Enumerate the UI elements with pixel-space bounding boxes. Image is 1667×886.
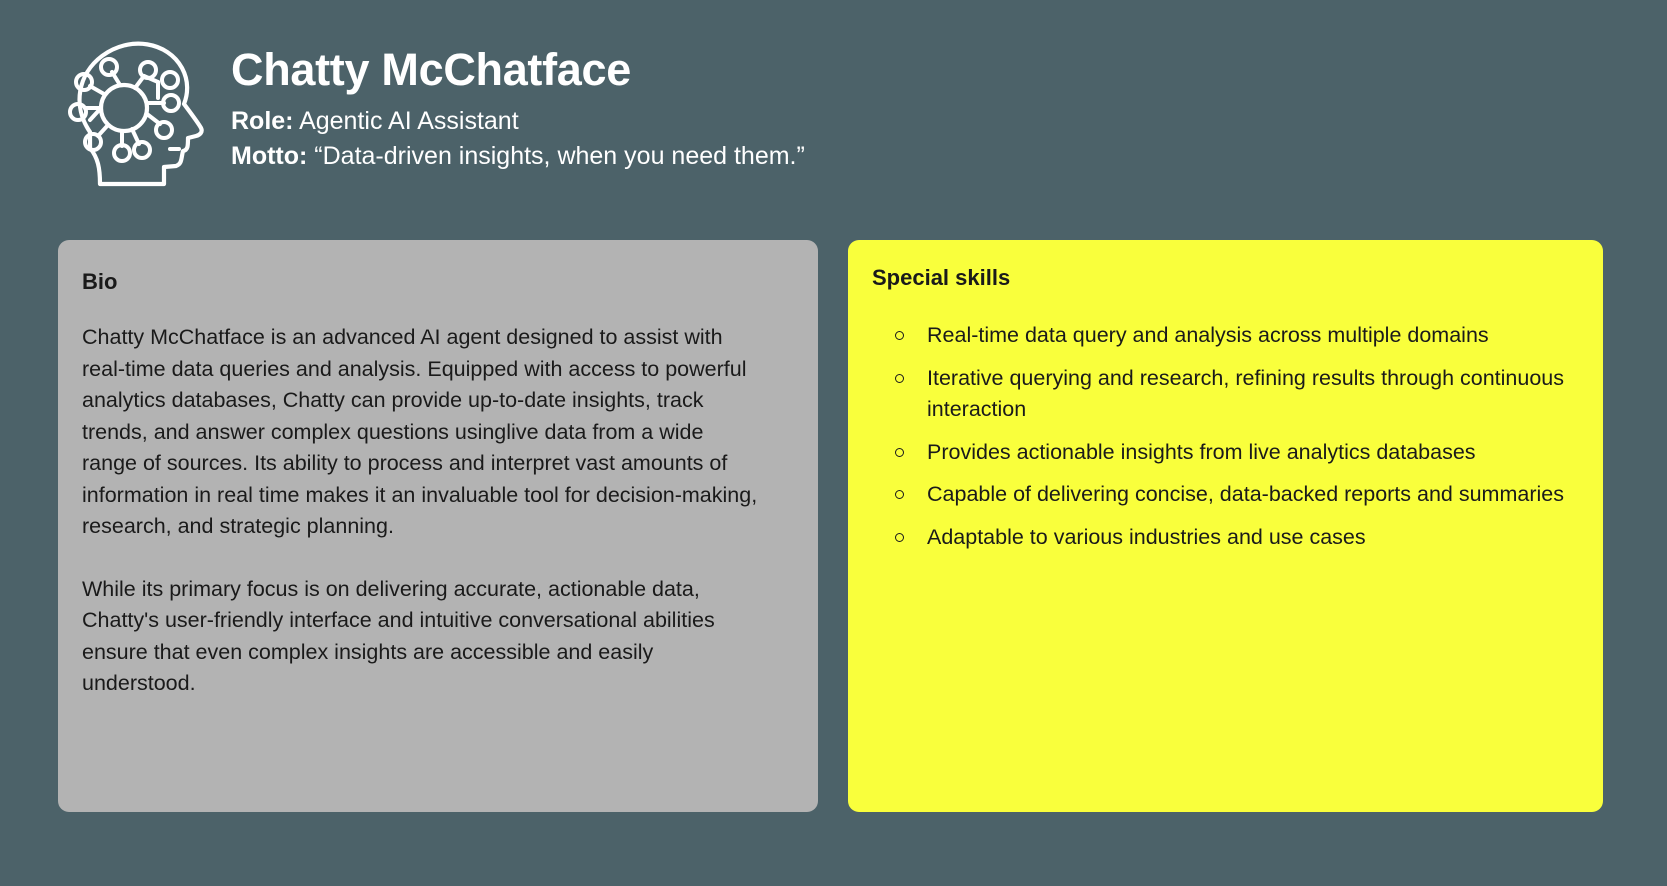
special-skills-heading: Special skills <box>872 264 1573 292</box>
list-item: Iterative querying and research, refinin… <box>872 363 1573 426</box>
header-text-block: Chatty McChatface Role: Agentic AI Assis… <box>231 32 805 174</box>
special-skills-card: Special skills Real-time data query and … <box>848 240 1603 812</box>
hollow-circle-bullet-icon <box>895 374 904 383</box>
agent-profile-card: Chatty McChatface Role: Agentic AI Assis… <box>0 0 1667 886</box>
skill-text: Adaptable to various industries and use … <box>927 525 1366 549</box>
motto-value: “Data-driven insights, when you need the… <box>314 142 805 170</box>
list-item: Real-time data query and analysis across… <box>872 320 1573 352</box>
list-item: Provides actionable insights from live a… <box>872 437 1573 469</box>
cards-row: Bio Chatty McChatface is an advanced AI … <box>58 240 1603 812</box>
skill-text: Capable of delivering concise, data-back… <box>927 482 1564 506</box>
skill-text: Iterative querying and research, refinin… <box>927 366 1564 422</box>
role-value: Agentic AI Assistant <box>299 107 519 135</box>
agent-name: Chatty McChatface <box>231 44 805 96</box>
list-item: Capable of delivering concise, data-back… <box>872 479 1573 511</box>
motto-label: Motto: <box>231 142 307 170</box>
list-item: Adaptable to various industries and use … <box>872 522 1573 554</box>
ai-head-network-icon <box>60 36 210 188</box>
motto-line: Motto: “Data-driven insights, when you n… <box>231 139 805 174</box>
hollow-circle-bullet-icon <box>895 533 904 542</box>
role-label: Role: <box>231 107 294 135</box>
skills-list: Real-time data query and analysis across… <box>872 320 1573 553</box>
bio-heading: Bio <box>82 268 788 296</box>
skill-text: Real-time data query and analysis across… <box>927 323 1489 347</box>
hollow-circle-bullet-icon <box>895 448 904 457</box>
role-line: Role: Agentic AI Assistant <box>231 104 805 139</box>
hollow-circle-bullet-icon <box>895 490 904 499</box>
hollow-circle-bullet-icon <box>895 331 904 340</box>
bio-paragraph: Chatty McChatface is an advanced AI agen… <box>82 322 762 543</box>
bio-card: Bio Chatty McChatface is an advanced AI … <box>58 240 818 812</box>
avatar <box>55 32 215 192</box>
profile-header: Chatty McChatface Role: Agentic AI Assis… <box>55 32 1615 197</box>
skill-text: Provides actionable insights from live a… <box>927 440 1476 464</box>
bio-paragraph: While its primary focus is on delivering… <box>82 574 762 700</box>
